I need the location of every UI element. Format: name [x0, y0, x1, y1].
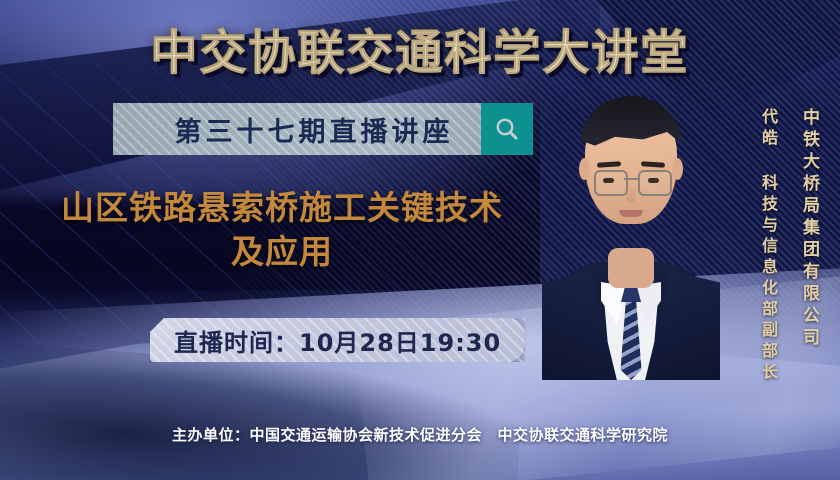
webinar-poster: 中交协联交通科学大讲堂 第三十七期直播讲座 山区铁路悬索桥施工关键技术 及应用 … [0, 0, 840, 480]
portrait-mouth [619, 210, 643, 217]
lecture-title-line-1: 山区铁路悬索桥施工关键技术 [22, 186, 542, 230]
search-button[interactable] [481, 103, 533, 155]
portrait-ear-left [579, 158, 590, 180]
lecture-title: 山区铁路悬索桥施工关键技术 及应用 [22, 186, 542, 273]
organizer-footer: 主办单位：中国交通运输协会新技术促进分会 中交协联交通科学研究院 [0, 424, 840, 445]
lecture-title-line-2: 及应用 [22, 230, 542, 274]
speaker-name-role: 代皓 科技与信息化部副部长 [756, 108, 780, 384]
speaker-portrait [540, 86, 722, 380]
episode-banner: 第三十七期直播讲座 [113, 103, 533, 155]
portrait-neck [608, 248, 654, 288]
search-icon [494, 116, 520, 142]
portrait-glasses-bridge [624, 178, 638, 180]
portrait-ear-right [672, 158, 683, 180]
portrait-glasses-left-lens [594, 170, 628, 196]
episode-label: 第三十七期直播讲座 [113, 110, 481, 149]
portrait-nose [626, 186, 636, 203]
poster-header-title: 中交协联交通科学大讲堂 [0, 14, 840, 83]
broadcast-time-badge: 直播时间：10月28日19:30 [150, 318, 525, 362]
broadcast-time-label: 直播时间：10月28日19:30 [174, 323, 501, 358]
portrait-glasses-right-lens [638, 170, 672, 196]
speaker-organization: 中铁大桥局集团有限公司 [797, 108, 822, 350]
